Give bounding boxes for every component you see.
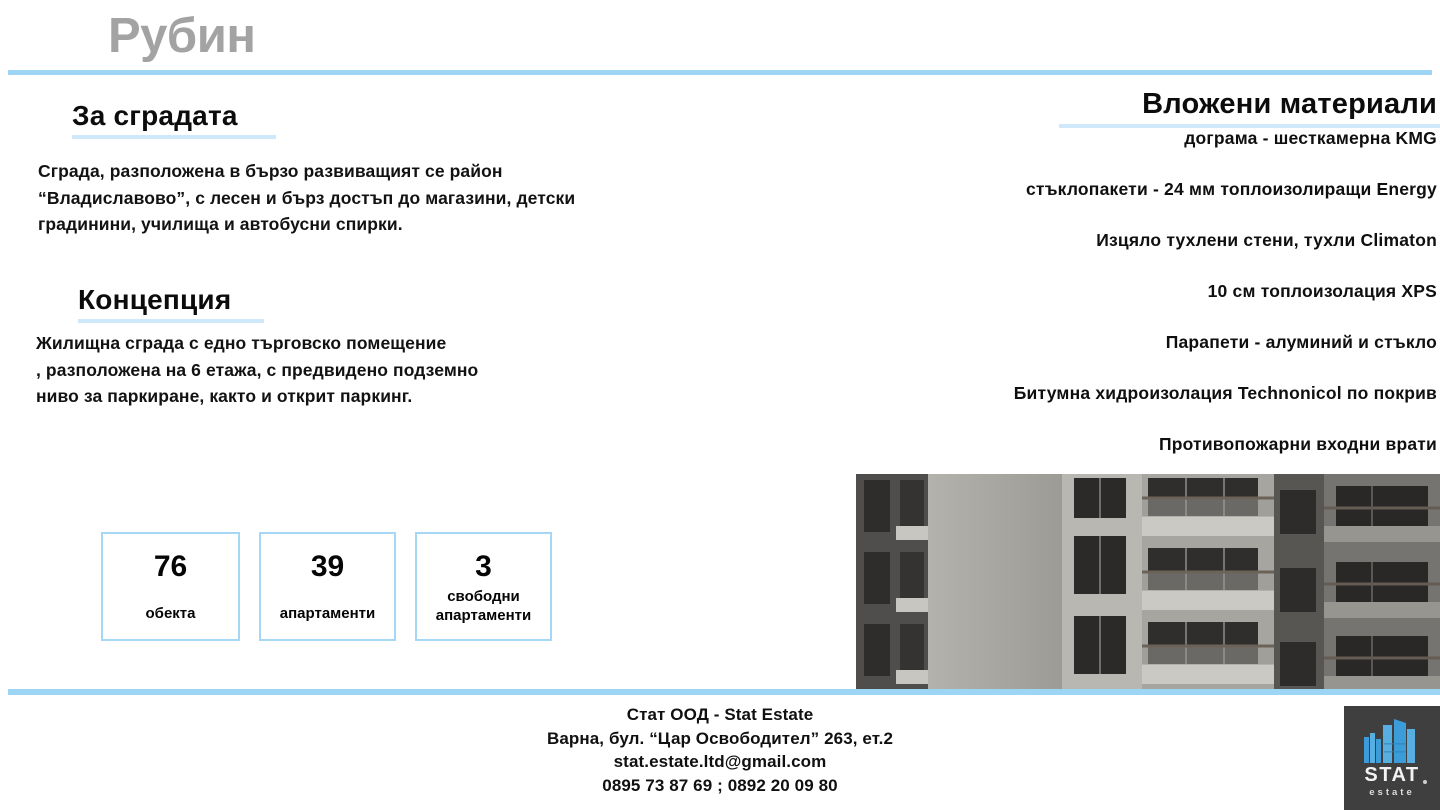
footer-email[interactable]: stat.estate.ltd@gmail.com [0,750,1440,774]
about-paragraph: Сграда, разположена в бързо развиващият … [38,158,628,238]
material-item: Битумна хидроизолация Technonicol по пок… [737,383,1437,403]
material-item: стъклопакети - 24 мм топлоизолиращи Ener… [737,179,1437,199]
stat-box-objects: 76 обекта [101,532,240,641]
materials-list: дограма - шесткамерна KMG стъклопакети -… [737,128,1437,485]
footer-address: Варна, бул. “Цар Освободител” 263, ет.2 [0,727,1440,751]
page-title: Рубин [108,8,255,64]
stat-label: обекта [146,604,196,623]
concept-paragraph: Жилищна сграда с едно търговско помещени… [36,330,636,410]
stat-number: 39 [311,550,344,584]
concept-heading-underline [78,319,264,323]
footer-phones: 0895 73 87 69 ; 0892 20 09 80 [0,774,1440,798]
stat-box-available-apartments: 3 свободни апартаменти [415,532,552,641]
logo-dot-icon [1423,780,1427,784]
building-photo [856,474,1440,690]
stat-label: апартаменти [280,604,375,623]
stat-number: 3 [475,550,492,584]
logo-word-text: STAT [1364,764,1419,786]
footer-divider [8,689,1440,695]
presentation-slide: Рубин За сградата Сграда, разположена в … [0,0,1440,810]
material-item: 10 см топлоизолация XPS [737,281,1437,301]
section-heading-concept: Концепция [78,284,231,316]
buildings-icon [1362,717,1422,763]
stat-box-apartments: 39 апартаменти [259,532,396,641]
footer-contact: Стат ООД - Stat Estate Варна, бул. “Цар … [0,703,1440,797]
header-divider [8,70,1432,75]
stat-number: 76 [154,550,187,584]
logo-subtitle: estate [1369,786,1414,799]
about-heading-underline [72,135,276,139]
building-facade-illustration [856,474,1440,690]
stats-row: 76 обекта 39 апартаменти 3 свободни апар… [101,532,552,641]
material-item: Парапети - алуминий и стъкло [737,332,1437,352]
material-item: Противопожарни входни врати [737,434,1437,454]
stat-label: свободни апартаменти [436,587,531,625]
footer-company: Стат ООД - Stat Estate [0,703,1440,727]
section-heading-materials: Вложени материали [1142,88,1437,121]
logo-wordmark: STAT [1364,765,1419,785]
section-heading-about: За сградата [72,100,238,132]
material-item: Изцяло тухлени стени, тухли Climaton [737,230,1437,250]
material-item: дограма - шесткамерна KMG [737,128,1437,148]
stat-estate-logo: STAT estate [1344,706,1440,810]
